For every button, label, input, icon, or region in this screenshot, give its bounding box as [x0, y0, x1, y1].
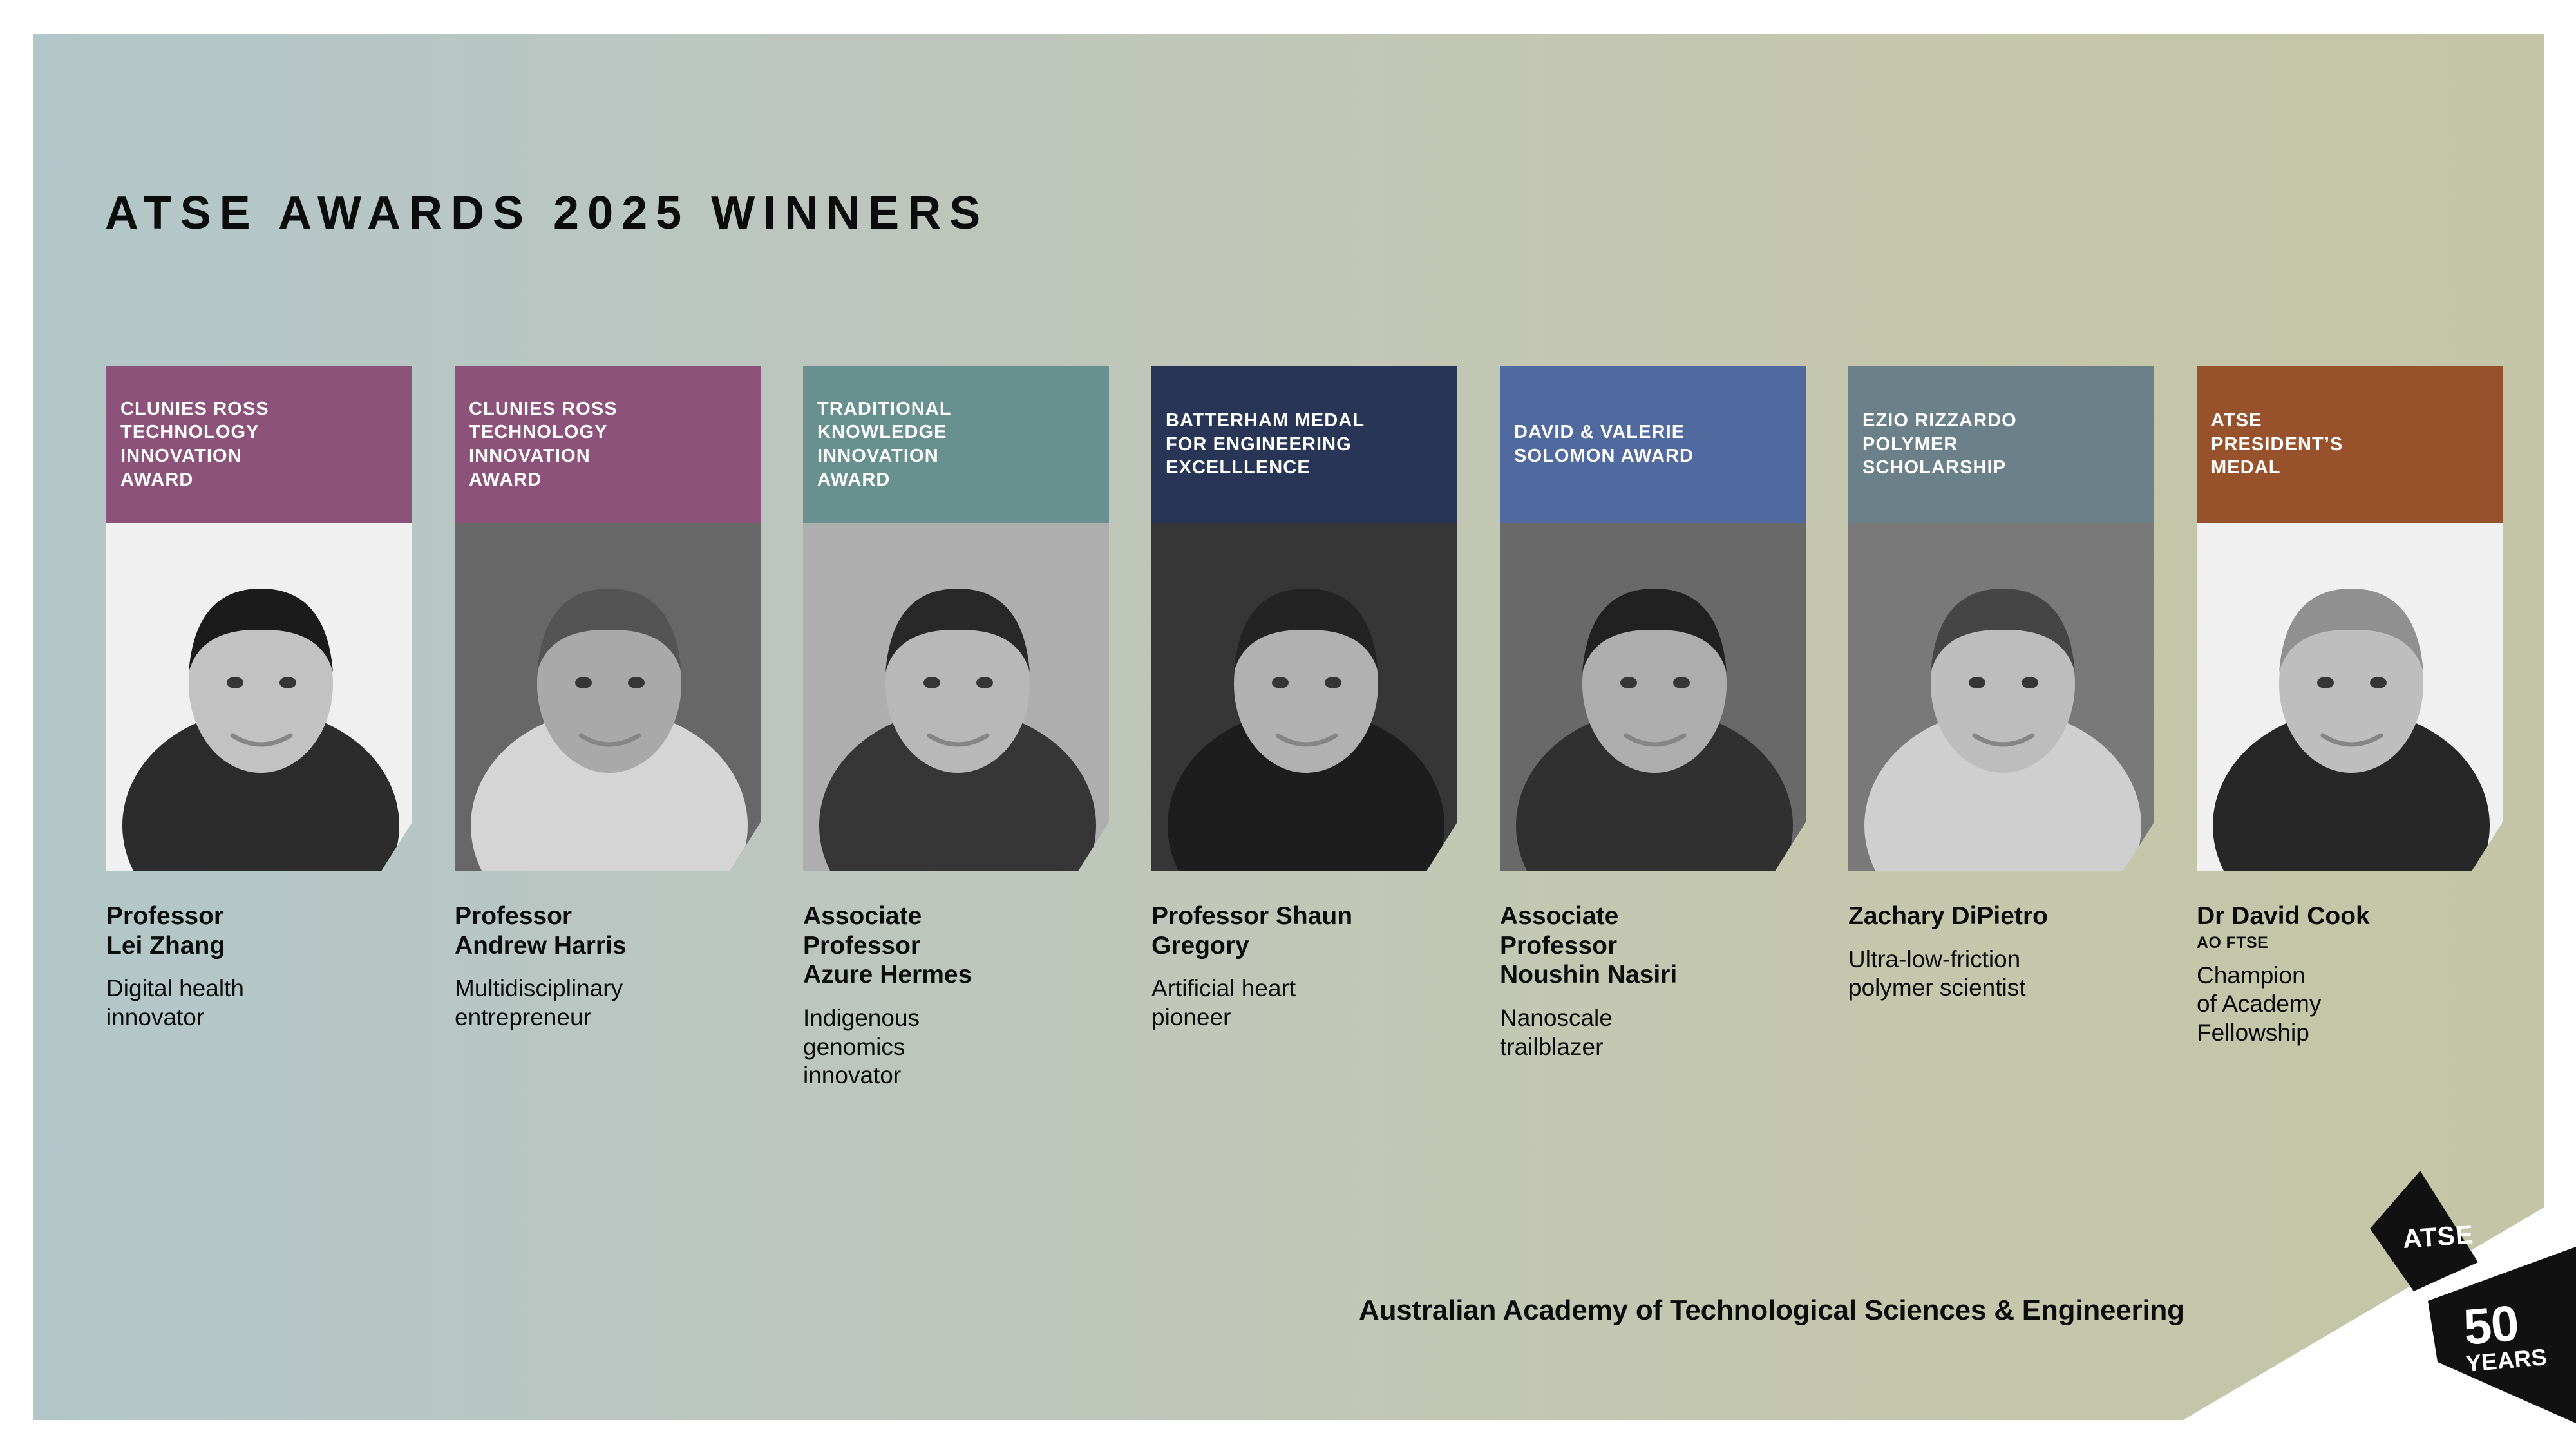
award-title: BATTERHAM MEDAL FOR ENGINEERING EXCELLLE…	[1166, 409, 1365, 480]
award-title: CLUNIES ROSS TECHNOLOGY INNOVATION AWARD	[469, 397, 618, 491]
winner-details: Dr David Cook AO FTSE Champion of Academ…	[2197, 871, 2505, 1048]
winner-details: Zachary DiPietro Ultra-low-friction poly…	[1848, 871, 2156, 1003]
winner-name: Professor Lei Zhang	[106, 902, 414, 960]
winner-name: Zachary DiPietro	[1848, 902, 2156, 931]
winner-card[interactable]: DAVID & VALERIE SOLOMON AWARD Associate …	[1500, 366, 1806, 1061]
winner-card[interactable]: EZIO RIZZARDO POLYMER SCHOLARSHIP Zachar…	[1848, 366, 2154, 1003]
award-title: TRADITIONAL KNOWLEDGE INNOVATION AWARD	[817, 397, 952, 491]
portrait-illustration	[455, 523, 761, 871]
portrait-illustration	[1151, 523, 1457, 871]
winner-description: Indigenous genomics innovator	[803, 1004, 1111, 1090]
winner-details: Associate Professor Azure Hermes Indigen…	[803, 871, 1111, 1090]
winner-description: Ultra-low-friction polymer scientist	[1848, 945, 2156, 1003]
logo-atse-label: ATSE	[2401, 1219, 2474, 1254]
award-header: CLUNIES ROSS TECHNOLOGY INNOVATION AWARD	[455, 366, 761, 523]
page-title: ATSE AWARDS 2025 WINNERS	[105, 187, 989, 240]
winner-photo	[1151, 523, 1457, 871]
winner-details: Professor Shaun Gregory Artificial heart…	[1151, 871, 1459, 1032]
winner-name: Professor Shaun Gregory	[1151, 902, 1459, 960]
winners-card-grid: CLUNIES ROSS TECHNOLOGY INNOVATION AWARD…	[106, 366, 2457, 1177]
poster-canvas: ATSE AWARDS 2025 WINNERS CLUNIES ROSS TE…	[0, 0, 2576, 1449]
winner-description: Nanoscale trailblazer	[1500, 1004, 1808, 1062]
award-header: BATTERHAM MEDAL FOR ENGINEERING EXCELLLE…	[1151, 366, 1457, 523]
portrait-illustration	[2197, 523, 2503, 871]
atse-50-years-logo: ATSE 50 YEARS	[2306, 1159, 2576, 1430]
award-header: DAVID & VALERIE SOLOMON AWARD	[1500, 366, 1806, 523]
award-header: TRADITIONAL KNOWLEDGE INNOVATION AWARD	[803, 366, 1109, 523]
award-title: ATSE PRESIDENT’S MEDAL	[2211, 409, 2343, 480]
portrait-illustration	[1848, 523, 2154, 871]
winner-name: Associate Professor Noushin Nasiri	[1500, 902, 1808, 990]
organisation-name: Australian Academy of Technological Scie…	[1359, 1294, 2184, 1327]
award-header: EZIO RIZZARDO POLYMER SCHOLARSHIP	[1848, 366, 2154, 523]
winner-description: Digital health innovator	[106, 974, 414, 1032]
award-header: ATSE PRESIDENT’S MEDAL	[2197, 366, 2503, 523]
winner-name: Associate Professor Azure Hermes	[803, 902, 1111, 990]
award-title: CLUNIES ROSS TECHNOLOGY INNOVATION AWARD	[120, 397, 269, 491]
award-header: CLUNIES ROSS TECHNOLOGY INNOVATION AWARD	[106, 366, 412, 523]
winner-photo	[803, 523, 1109, 871]
winner-postnominals: AO FTSE	[2197, 934, 2505, 952]
winner-card[interactable]: ATSE PRESIDENT’S MEDAL Dr David Cook AO …	[2197, 366, 2503, 1048]
portrait-illustration	[106, 523, 412, 871]
portrait-illustration	[1500, 523, 1806, 871]
winner-description: Champion of Academy Fellowship	[2197, 961, 2505, 1048]
winner-details: Professor Andrew Harris Multidisciplinar…	[455, 871, 762, 1032]
winner-photo	[1848, 523, 2154, 871]
award-title: EZIO RIZZARDO POLYMER SCHOLARSHIP	[1862, 409, 2017, 480]
winner-description: Artificial heart pioneer	[1151, 974, 1459, 1032]
portrait-illustration	[803, 523, 1109, 871]
winner-name: Professor Andrew Harris	[455, 902, 762, 960]
winner-card[interactable]: CLUNIES ROSS TECHNOLOGY INNOVATION AWARD…	[106, 366, 412, 1032]
winner-details: Professor Lei Zhang Digital health innov…	[106, 871, 414, 1032]
winner-photo	[2197, 523, 2503, 871]
award-title: DAVID & VALERIE SOLOMON AWARD	[1514, 421, 1694, 468]
winner-details: Associate Professor Noushin Nasiri Nanos…	[1500, 871, 1808, 1061]
winner-card[interactable]: TRADITIONAL KNOWLEDGE INNOVATION AWARD A…	[803, 366, 1109, 1090]
winner-name: Dr David Cook	[2197, 902, 2505, 931]
winner-photo	[1500, 523, 1806, 871]
winner-card[interactable]: BATTERHAM MEDAL FOR ENGINEERING EXCELLLE…	[1151, 366, 1457, 1032]
winner-photo	[455, 523, 761, 871]
winner-description: Multidisciplinary entrepreneur	[455, 974, 762, 1032]
winner-card[interactable]: CLUNIES ROSS TECHNOLOGY INNOVATION AWARD…	[455, 366, 761, 1032]
winner-photo	[106, 523, 412, 871]
